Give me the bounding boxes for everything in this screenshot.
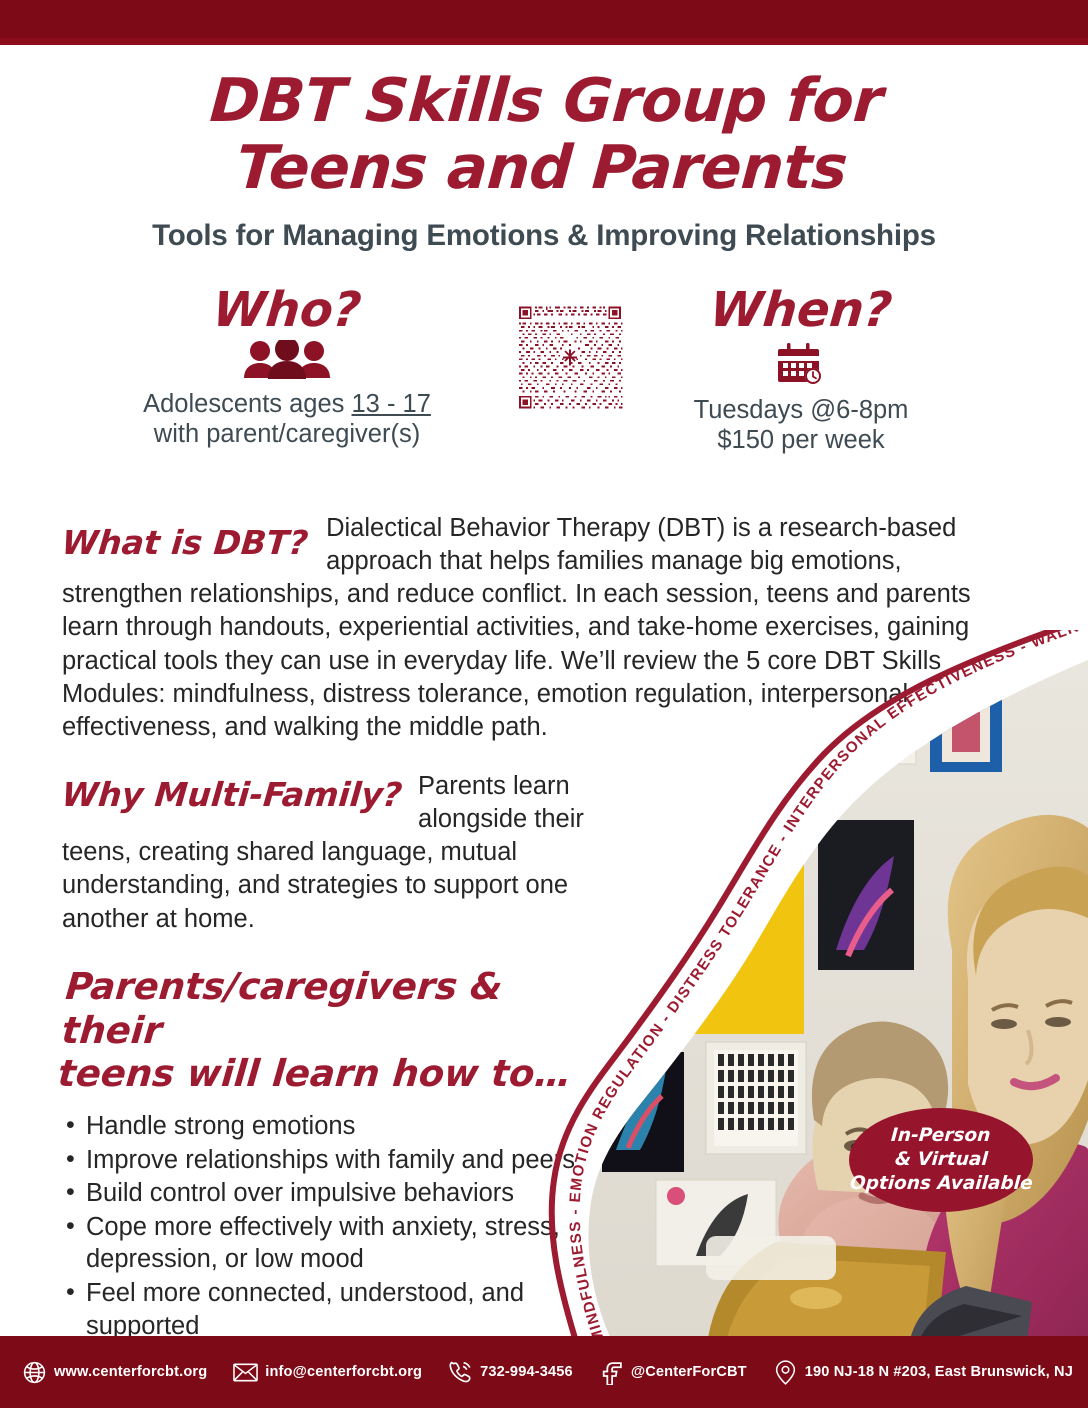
pin-icon bbox=[773, 1360, 798, 1385]
footer-label: @CenterForCBT bbox=[631, 1364, 747, 1380]
badge-line3: Options Available bbox=[849, 1172, 1033, 1196]
list-item: Handle strong emotions bbox=[62, 1110, 582, 1143]
list-item: Improve relationships with family and pe… bbox=[62, 1144, 582, 1177]
facebook-icon bbox=[599, 1360, 624, 1385]
globe-icon bbox=[22, 1360, 47, 1385]
top-accent-bar bbox=[0, 0, 1088, 45]
who-line1-prefix: Adolescents ages bbox=[143, 390, 351, 418]
list-item: Feel more connected, understood, and sup… bbox=[62, 1277, 582, 1342]
list-item: Cope more effectively with anxiety, stre… bbox=[62, 1211, 582, 1276]
learning-outcomes-list: Handle strong emotions Improve relations… bbox=[62, 1110, 582, 1342]
footer-item-phone[interactable]: 732-994-3456 bbox=[448, 1360, 573, 1385]
page-title: DBT Skills Group for Teens and Parents bbox=[0, 68, 1088, 202]
page-title-line1: DBT Skills Group for bbox=[208, 66, 885, 136]
svg-text:wave: wave bbox=[627, 888, 692, 918]
footer-item-address[interactable]: 190 NJ-18 N #203, East Brunswick, NJ bbox=[773, 1360, 1073, 1385]
why-multi-family-section: Why Multi-Family? Parents learn alongsid… bbox=[62, 770, 622, 936]
footer-item-website[interactable]: www.centerforcbt.org bbox=[22, 1360, 207, 1385]
learning-outcomes-heading: Parents/caregivers & theirteens will lea… bbox=[56, 965, 587, 1096]
page-title-line2: Teens and Parents bbox=[0, 135, 1088, 202]
phone-icon bbox=[448, 1360, 473, 1385]
envelope-icon bbox=[233, 1360, 258, 1385]
when-detail: Tuesdays @6-8pm $150 per week bbox=[606, 395, 996, 455]
who-detail: Adolescents ages 13 - 17 with parent/car… bbox=[92, 389, 482, 449]
footer-item-facebook[interactable]: @CenterForCBT bbox=[599, 1360, 747, 1385]
calendar-clock-icon bbox=[606, 344, 996, 386]
when-block: When? Tuesdays @6-8p bbox=[606, 286, 996, 455]
why-multi-family-heading: Why Multi-Family? bbox=[61, 778, 404, 811]
learning-outcomes-heading-line2: teens will learn how to… bbox=[56, 1052, 573, 1095]
when-line2: $150 per week bbox=[717, 426, 884, 454]
when-heading: When? bbox=[604, 286, 998, 334]
photo-parent-and-teen: wave bbox=[556, 650, 1088, 1350]
footer-item-email[interactable]: info@centerforcbt.org bbox=[233, 1360, 422, 1385]
footer-label: www.centerforcbt.org bbox=[54, 1364, 207, 1380]
options-available-badge: In-Person & Virtual Options Available bbox=[849, 1108, 1033, 1212]
badge-line2: & Virtual bbox=[894, 1148, 989, 1172]
who-heading: Who? bbox=[90, 286, 484, 334]
learning-outcomes-section: Parents/caregivers & theirteens will lea… bbox=[62, 965, 582, 1343]
who-line2: with parent/caregiver(s) bbox=[154, 420, 420, 448]
top-accent-bar-shadow bbox=[0, 38, 1088, 45]
footer-label: 190 NJ-18 N #203, East Brunswick, NJ bbox=[805, 1364, 1073, 1380]
who-age-range: 13 - 17 bbox=[352, 390, 431, 418]
badge-line1: In-Person bbox=[890, 1124, 991, 1148]
learning-outcomes-heading-line1: Parents/caregivers & their bbox=[60, 965, 504, 1052]
what-is-dbt-heading: What is DBT? bbox=[61, 526, 310, 559]
footer-contact-bar: www.centerforcbt.org info@centerforcbt.o… bbox=[0, 1336, 1088, 1408]
footer-label: 732-994-3456 bbox=[480, 1364, 573, 1380]
page-subtitle: Tools for Managing Emotions & Improving … bbox=[0, 219, 1088, 253]
footer-label: info@centerforcbt.org bbox=[265, 1364, 422, 1380]
who-block: Who? Adolescents ages 13 - 17 with paren… bbox=[92, 286, 482, 449]
when-line1: Tuesdays @6-8pm bbox=[694, 396, 909, 424]
people-group-icon bbox=[92, 340, 482, 380]
list-item: Build control over impulsive behaviors bbox=[62, 1177, 582, 1210]
